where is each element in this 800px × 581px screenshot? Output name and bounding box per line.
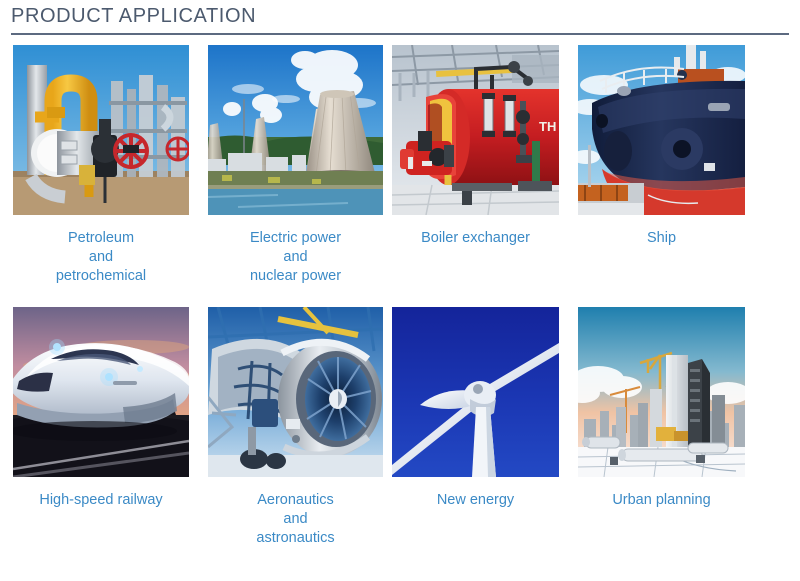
card-caption: New energy [392,491,559,510]
application-card-petroleum[interactable]: Petroleum and petrochemical [13,45,189,286]
high-speed-train-photo[interactable] [13,307,189,477]
caption-line: petrochemical [13,267,189,286]
caption-line: and [208,510,383,529]
section-header: PRODUCT APPLICATION [11,0,789,38]
application-card-ship[interactable]: Ship [578,45,745,248]
red-industrial-boiler-photo[interactable]: TH [392,45,559,215]
caption-line: nuclear power [208,267,383,286]
application-card-boiler[interactable]: TH Boiler [392,45,559,248]
caption-line: Electric power [208,229,383,248]
caption-line: New energy [392,491,559,510]
page-title: PRODUCT APPLICATION [11,0,789,30]
application-row: High-speed railway [0,307,800,569]
ship-bow-photo[interactable] [578,45,745,215]
application-card-new-energy[interactable]: New energy [392,307,559,510]
caption-line: High-speed railway [13,491,189,510]
application-card-railway[interactable]: High-speed railway [13,307,189,510]
card-caption: Urban planning [578,491,745,510]
application-grid: Petroleum and petrochemical [0,45,800,569]
caption-line: Boiler exchanger [392,229,559,248]
petrochemical-plant-photo[interactable] [13,45,189,215]
card-caption: Boiler exchanger [392,229,559,248]
caption-line: Petroleum [13,229,189,248]
jet-engine-photo[interactable] [208,307,383,477]
card-caption: Aeronautics and astronautics [208,491,383,548]
application-card-urban-planning[interactable]: Urban planning [578,307,745,510]
application-row: Petroleum and petrochemical [0,45,800,307]
caption-line: and [208,248,383,267]
svg-text:TH: TH [539,119,556,134]
nuclear-cooling-towers-photo[interactable] [208,45,383,215]
wind-turbine-photo[interactable] [392,307,559,477]
card-caption: Electric power and nuclear power [208,229,383,286]
caption-line: Aeronautics [208,491,383,510]
application-card-aeronautics[interactable]: Aeronautics and astronautics [208,307,383,548]
urban-planning-skyline-photo[interactable] [578,307,745,477]
caption-line: Urban planning [578,491,745,510]
caption-line: and [13,248,189,267]
product-application-page: PRODUCT APPLICATION [0,0,800,581]
caption-line: Ship [578,229,745,248]
card-caption: Petroleum and petrochemical [13,229,189,286]
caption-line: astronautics [208,529,383,548]
title-divider [11,33,789,35]
card-caption: High-speed railway [13,491,189,510]
application-card-electric-power[interactable]: Electric power and nuclear power [208,45,383,286]
card-caption: Ship [578,229,745,248]
